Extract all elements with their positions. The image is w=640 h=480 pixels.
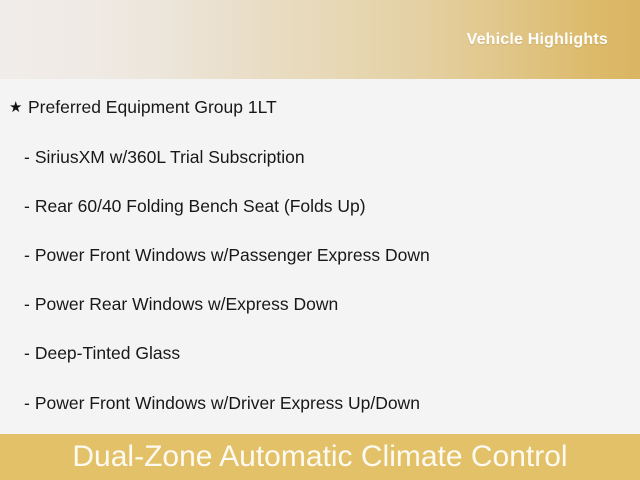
list-item-label: -Power Front Windows w/Driver Express Up…	[24, 393, 420, 414]
list-item: -Power Front Windows w/Driver Express Up…	[0, 389, 640, 417]
list-item-label: -Rear 60/40 Folding Bench Seat (Folds Up…	[24, 196, 366, 217]
dash-icon: -	[24, 147, 30, 168]
footer-band: Dual-Zone Automatic Climate Control	[0, 434, 640, 480]
list-item-label: -Deep-Tinted Glass	[24, 343, 180, 364]
highlights-list: ★ Preferred Equipment Group 1LT -SiriusX…	[0, 79, 640, 434]
list-item-label: -Power Front Windows w/Passenger Express…	[24, 245, 430, 266]
dash-icon: -	[24, 294, 30, 315]
list-item: ★ Preferred Equipment Group 1LT	[0, 93, 640, 121]
list-item-label: -Power Rear Windows w/Express Down	[24, 294, 338, 315]
dash-icon: -	[24, 393, 30, 414]
dash-icon: -	[24, 343, 30, 364]
list-item-label: Preferred Equipment Group 1LT	[28, 97, 277, 118]
list-item-text: SiriusXM w/360L Trial Subscription	[35, 147, 305, 167]
list-item: -Deep-Tinted Glass	[0, 339, 640, 367]
dash-icon: -	[24, 245, 30, 266]
list-item-text: Deep-Tinted Glass	[35, 343, 180, 363]
list-item: -Power Front Windows w/Passenger Express…	[0, 241, 640, 269]
list-item: -Rear 60/40 Folding Bench Seat (Folds Up…	[0, 192, 640, 220]
vehicle-highlights-slide: Vehicle Highlights ★ Preferred Equipment…	[0, 0, 640, 480]
list-item: -SiriusXM w/360L Trial Subscription	[0, 143, 640, 171]
list-item-text: Rear 60/40 Folding Bench Seat (Folds Up)	[35, 196, 366, 216]
list-item-text: Power Front Windows w/Passenger Express …	[35, 245, 430, 265]
list-item-text: Power Rear Windows w/Express Down	[35, 294, 338, 314]
header-band: Vehicle Highlights	[0, 0, 640, 79]
star-icon: ★	[9, 100, 28, 115]
dash-icon: -	[24, 196, 30, 217]
list-item: -Power Rear Windows w/Express Down	[0, 290, 640, 318]
footer-caption: Dual-Zone Automatic Climate Control	[72, 442, 567, 472]
list-item-text: Power Front Windows w/Driver Express Up/…	[35, 393, 420, 413]
list-item-label: -SiriusXM w/360L Trial Subscription	[24, 147, 305, 168]
page-title: Vehicle Highlights	[467, 31, 608, 49]
